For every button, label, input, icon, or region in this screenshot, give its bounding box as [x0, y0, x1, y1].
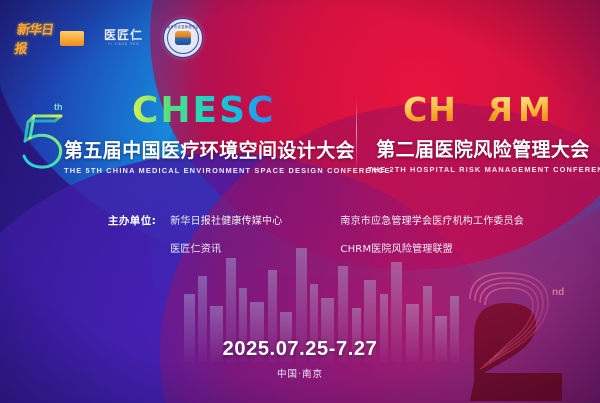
organizers-column-one: 新华日报社健康传媒中心 医匠仁资讯	[170, 212, 282, 255]
ordinal-suffix-th: th	[54, 102, 63, 112]
event-location: 中国·南京	[0, 366, 600, 380]
decorative-ordinal-suffix: nd	[552, 287, 564, 298]
organizer-item: 医匠仁资讯	[170, 240, 282, 255]
decorative-number-two: nd	[444, 263, 594, 403]
yijiangren-label: 医匠仁	[104, 29, 143, 41]
event-date: 2025.07.25-7.27	[0, 338, 600, 361]
xinhua-daily-logo: 新华日报	[16, 27, 84, 49]
left-title-en: THE 5TH CHINA MEDICAL ENVIRONMENT SPACE …	[64, 166, 354, 175]
title-divider	[356, 98, 357, 172]
chrm-acronym-logo: CH R M	[398, 92, 568, 126]
svg-text:R: R	[488, 92, 513, 126]
yijiangren-logo: 医匠仁 YI JIANG REN	[104, 29, 143, 46]
svg-text:M: M	[518, 92, 551, 126]
organizers-columns: 新华日报社健康传媒中心 医匠仁资讯 南京市应急管理学会医疗机构工作委员会 CHR…	[170, 212, 524, 255]
organizers-label: 主办单位:	[108, 212, 156, 228]
left-title-cn: 第五届中国医疗环境空间设计大会	[64, 134, 345, 163]
right-title-en: THE 2TH HOSPITAL RISK MANAGEMENT CONFERE…	[368, 165, 598, 174]
xinhua-daily-mark	[60, 31, 84, 46]
chesc-text: CHESC	[132, 92, 276, 128]
conference-titles: th CHESC 第五届中国医疗环境空间设计大会 THE 5TH CHINA M…	[0, 92, 600, 184]
xinhua-daily-label: 新华日报	[13, 19, 62, 57]
chesc-acronym-logo: CHESC	[132, 92, 348, 128]
conference-poster: 新华日报 医匠仁 YI JIANG REN 南京市应急管理学会	[0, 0, 600, 403]
organizer-item: 南京市应急管理学会医疗机构工作委员会	[340, 212, 524, 227]
emblem-arc-text: 南京市应急管理学会	[164, 24, 202, 29]
organizer-item: CHRM医院风险管理联盟	[340, 240, 524, 255]
yijiangren-pinyin: YI JIANG REN	[104, 43, 143, 46]
right-title-cn: 第二届医院风险管理大会	[371, 133, 594, 162]
sponsor-logo-bar: 新华日报 医匠仁 YI JIANG REN 南京市应急管理学会	[16, 18, 203, 58]
svg-text:CH: CH	[403, 92, 457, 126]
organizers-column-two: 南京市应急管理学会医疗机构工作委员会 CHRM医院风险管理联盟	[340, 212, 524, 255]
right-conference-block: CH R M 第二届医院风险管理大会 THE 2TH HOSPITAL RISK…	[368, 92, 598, 174]
organizers-section: 主办单位: 新华日报社健康传媒中心 医匠仁资讯 南京市应急管理学会医疗机构工作委…	[108, 212, 524, 255]
left-conference-block: CHESC 第五届中国医疗环境空间设计大会 THE 5TH CHINA MEDI…	[64, 92, 354, 175]
event-date-block: 2025.07.25-7.27 中国·南京	[0, 338, 600, 380]
association-emblem-logo: 南京市应急管理学会	[163, 18, 203, 58]
organizer-item: 新华日报社健康传媒中心	[170, 212, 282, 227]
